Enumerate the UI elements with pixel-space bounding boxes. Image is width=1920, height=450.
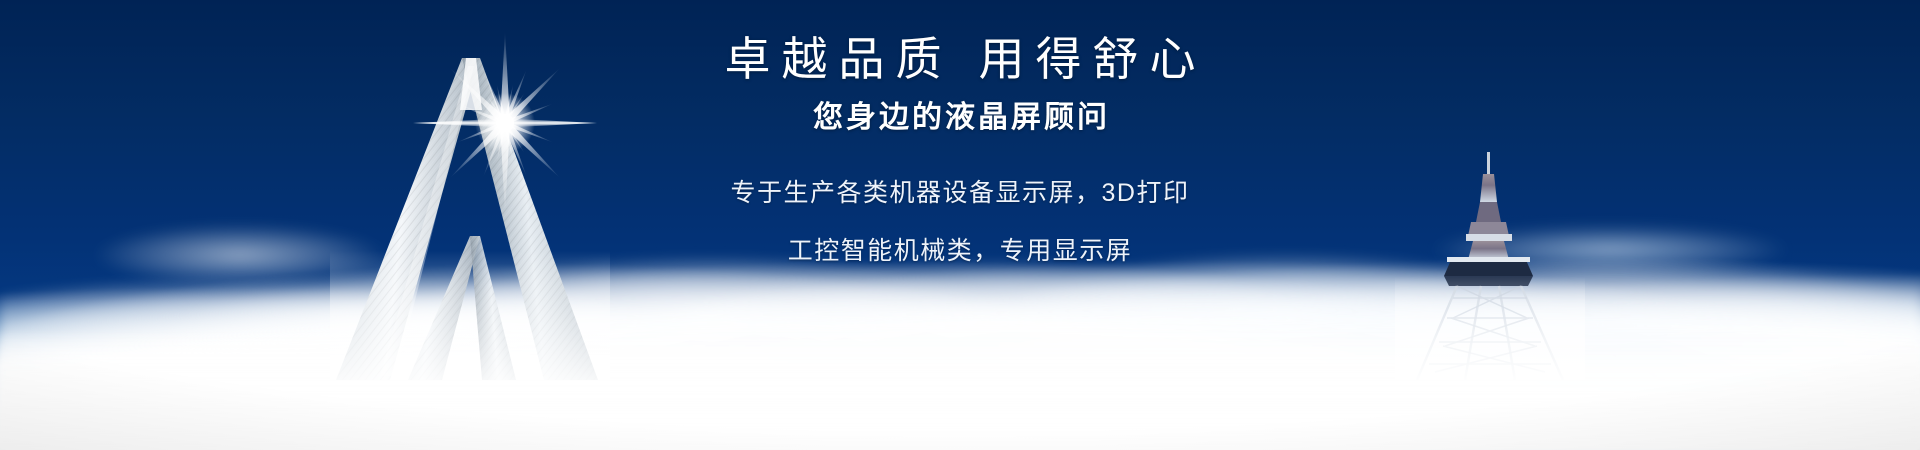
promo-banner: 卓越品质用得舒心 您身边的液晶屏顾问 专于生产各类机器设备显示屏，3D打印 工控… [0, 0, 1920, 450]
subheadline: 您身边的液晶屏顾问 [0, 100, 1920, 136]
body-line-2: 工控智能机械类，专用显示屏 [0, 236, 1920, 267]
headline-part-2: 用得舒心 [979, 33, 1207, 85]
body-line-1: 专于生产各类机器设备显示屏，3D打印 [0, 178, 1920, 209]
headline-part-1: 卓越品质 [725, 33, 953, 85]
banner-copy: 卓越品质用得舒心 您身边的液晶屏顾问 专于生产各类机器设备显示屏，3D打印 工控… [0, 32, 1920, 267]
body-text-block: 专于生产各类机器设备显示屏，3D打印 工控智能机械类，专用显示屏 [0, 178, 1920, 267]
headline: 卓越品质用得舒心 [0, 32, 1920, 86]
cloud-base [0, 330, 1920, 450]
